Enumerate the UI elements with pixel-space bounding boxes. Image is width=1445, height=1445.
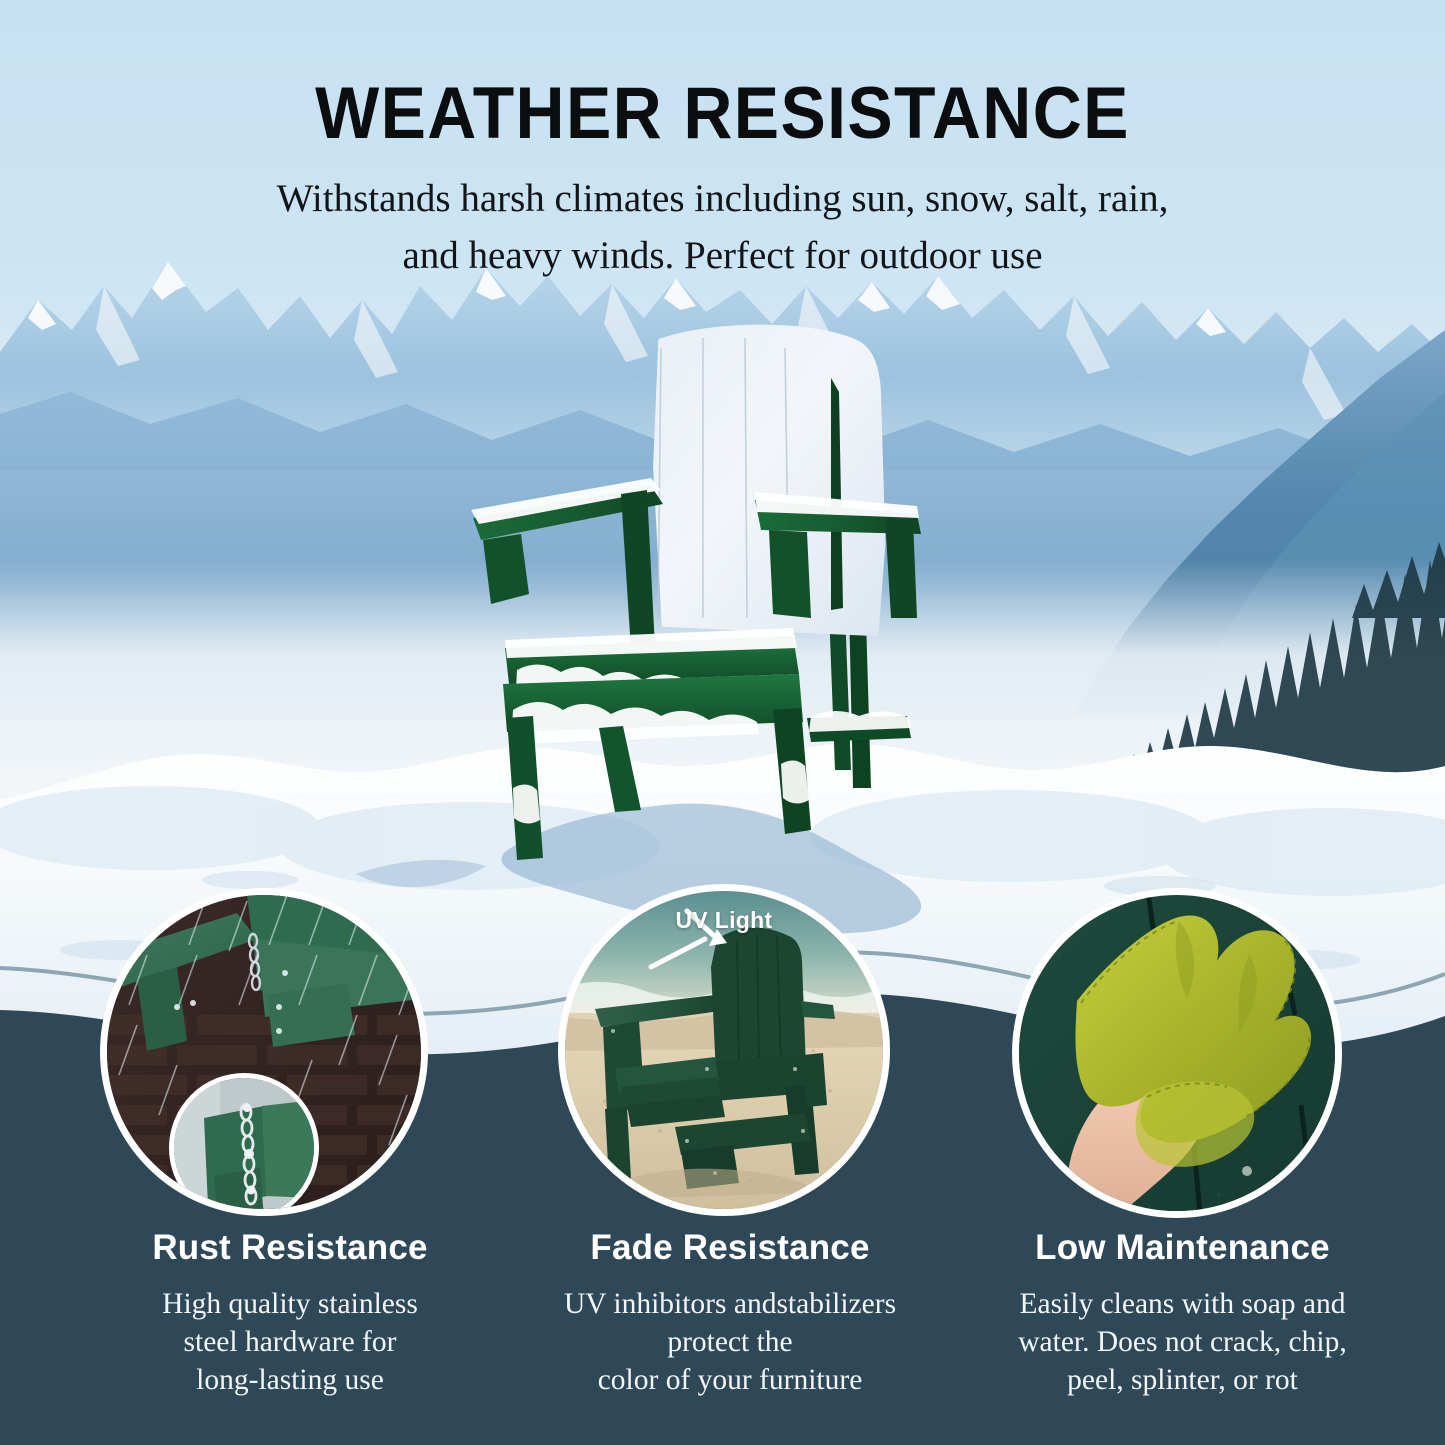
subtitle-line-2: and heavy winds. Perfect for outdoor use (402, 234, 1042, 277)
uv-light-label: UV Light (676, 907, 773, 934)
chair-back (653, 325, 885, 637)
hero-product-chair (455, 318, 950, 863)
feature-inset-chain-closeup (169, 1073, 319, 1216)
feature-body-line-1: High quality stainless (162, 1288, 418, 1320)
page-title: WEATHER RESISTANCE (51, 72, 1395, 155)
feature-body-line-1: Easily cleans with soap and (1019, 1288, 1345, 1320)
feature-body-line-3: color of your furniture (598, 1364, 863, 1396)
feature-image-rust-resistance (100, 888, 428, 1216)
feature-body-rust-resistance: High quality stainless steel hardware fo… (75, 1285, 505, 1399)
infographic-canvas: UV Light (0, 0, 1445, 1445)
subtitle-line-1: Withstands harsh climates including sun,… (277, 177, 1169, 220)
feature-body-low-maintenance: Easily cleans with soap and water. Does … (960, 1285, 1405, 1399)
feature-body-line-2: protect the (667, 1326, 792, 1358)
feature-body-line-2: water. Does not crack, chip, (1018, 1326, 1346, 1358)
feature-caption-fade-resistance: Fade Resistance UV inhibitors andstabili… (515, 1228, 945, 1399)
feature-caption-low-maintenance: Low Maintenance Easily cleans with soap … (960, 1228, 1405, 1399)
chair-front-apron (503, 674, 803, 744)
chair-left-armrest (471, 478, 663, 650)
page-subtitle: Withstands harsh climates including sun,… (213, 170, 1233, 284)
feature-body-line-3: peel, splinter, or rot (1067, 1364, 1298, 1396)
feature-title-rust-resistance: Rust Resistance (75, 1228, 505, 1268)
feature-body-fade-resistance: UV inhibitors andstabilizers protect the… (515, 1285, 945, 1399)
feature-body-line-1: UV inhibitors andstabilizers (564, 1288, 896, 1320)
feature-title-low-maintenance: Low Maintenance (960, 1228, 1405, 1268)
feature-body-line-3: long-lasting use (196, 1364, 384, 1396)
feature-image-fade-resistance: UV Light (558, 884, 890, 1216)
feature-title-fade-resistance: Fade Resistance (515, 1228, 945, 1268)
feature-image-low-maintenance (1012, 888, 1342, 1218)
feature-caption-rust-resistance: Rust Resistance High quality stainless s… (75, 1228, 505, 1399)
feature-body-line-2: steel hardware for (184, 1326, 397, 1358)
